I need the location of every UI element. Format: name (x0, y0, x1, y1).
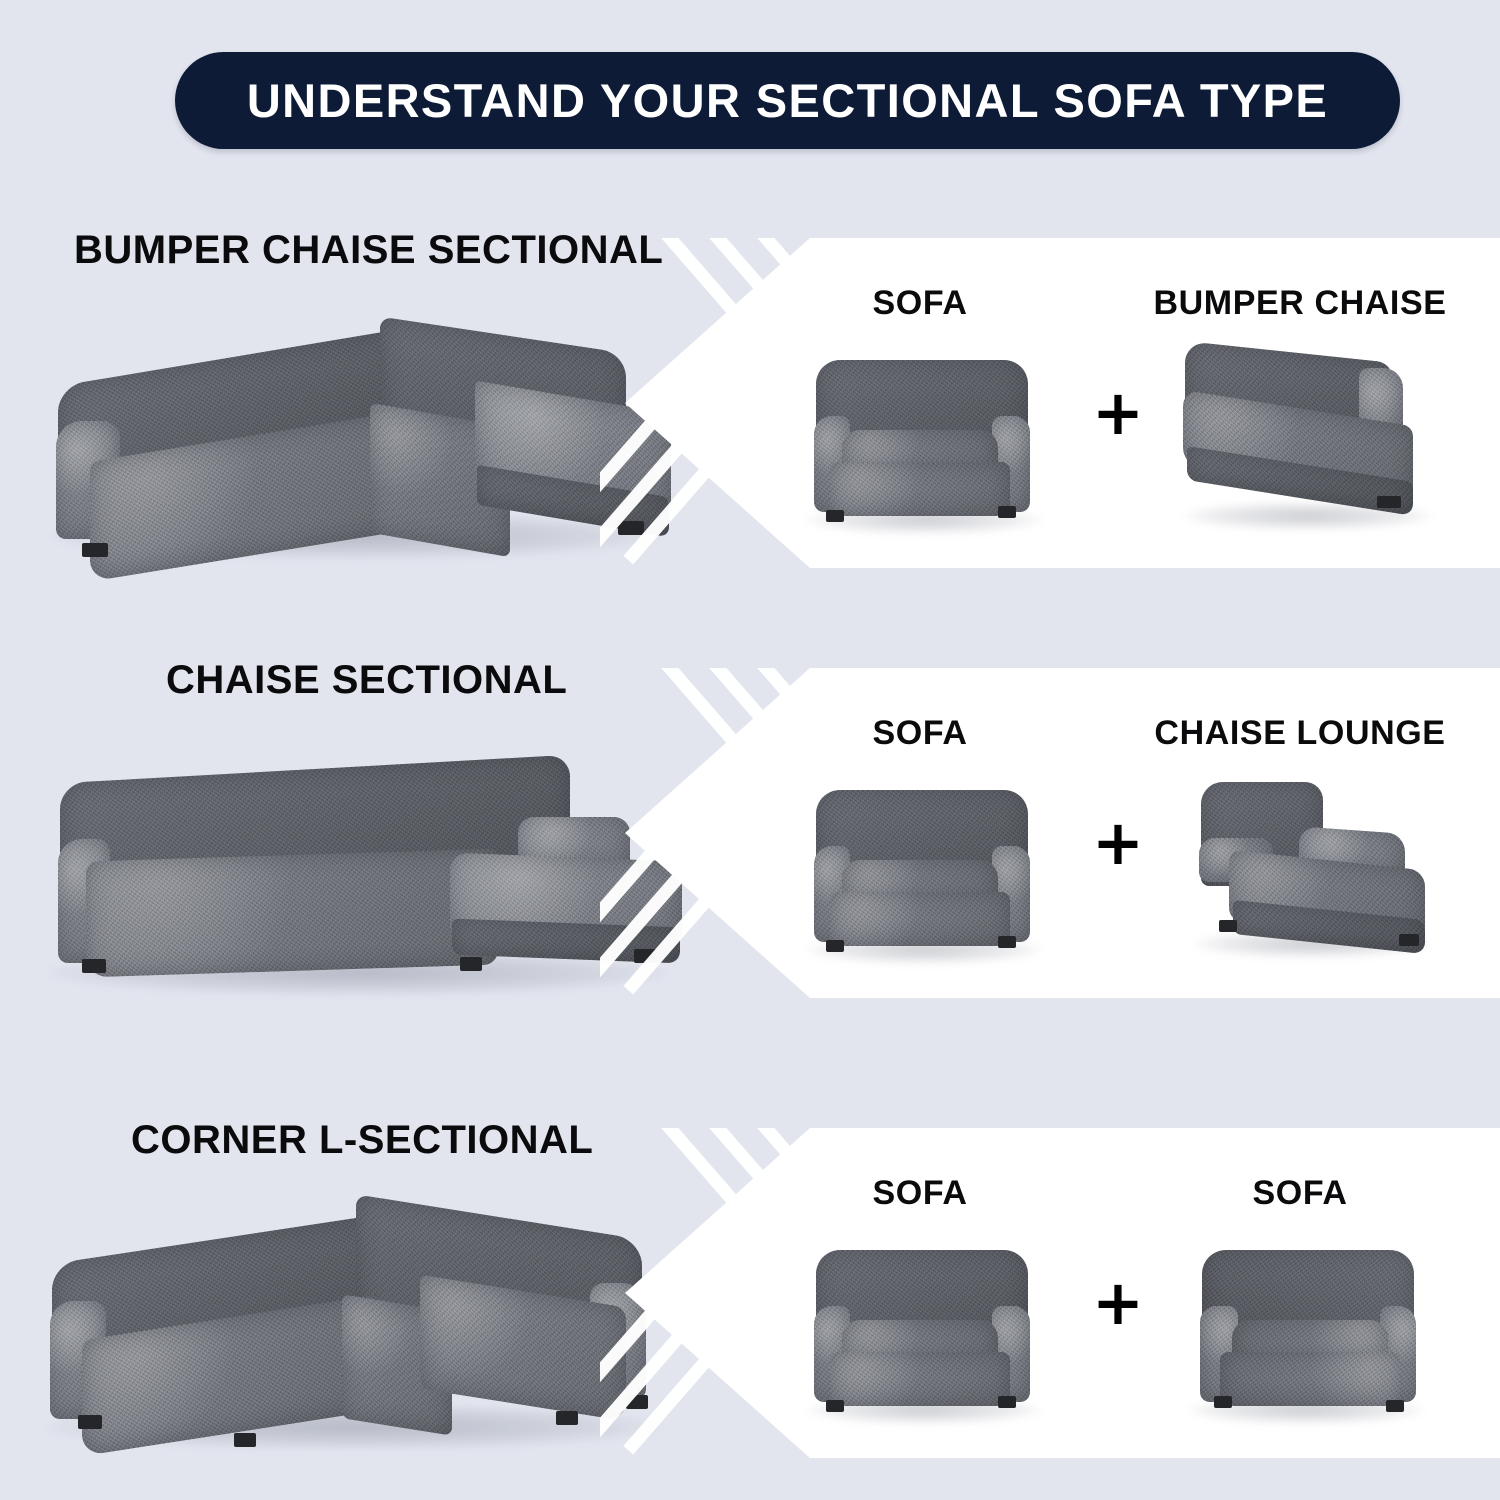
component-label-chaise-lounge: CHAISE LOUNGE (1154, 716, 1445, 750)
section-chaise-sectional: CHAISE SECTIONAL (0, 650, 1500, 1020)
title-banner: UNDERSTAND YOUR SECTIONAL SOFA TYPE (175, 52, 1400, 149)
component-panel-content: SOFA SOFA (625, 1128, 1500, 1458)
section-corner-l-sectional: CORNER L-SECTIONAL (0, 1110, 1500, 1480)
section-heading: BUMPER CHAISE SECTIONAL (74, 230, 663, 270)
piece-bumper-chaise (1173, 346, 1438, 531)
component-label-sofa-right: SOFA (1253, 1176, 1348, 1210)
component-label-sofa: SOFA (873, 286, 968, 320)
section-heading: CHAISE SECTIONAL (166, 660, 567, 700)
component-label-bumper-chaise: BUMPER CHAISE (1153, 286, 1446, 320)
piece-sofa (800, 358, 1045, 533)
infographic-canvas: UNDERSTAND YOUR SECTIONAL SOFA TYPE BUMP… (0, 0, 1500, 1500)
piece-chaise-lounge (1185, 778, 1440, 958)
component-label-sofa-left: SOFA (873, 1176, 968, 1210)
page-title: UNDERSTAND YOUR SECTIONAL SOFA TYPE (247, 77, 1328, 124)
hero-chaise-sectional (20, 705, 660, 1005)
component-label-sofa: SOFA (873, 716, 968, 750)
hero-bumper-chaise-sectional (20, 275, 660, 575)
component-panel-content: SOFA BUMPER CHAISE (625, 238, 1500, 568)
section-heading: CORNER L-SECTIONAL (131, 1120, 593, 1160)
operator-plus: + (1092, 382, 1144, 444)
section-bumper-chaise-sectional: BUMPER CHAISE SECTIONAL (0, 220, 1500, 590)
piece-sofa (800, 788, 1045, 963)
piece-sofa-mirrored (1185, 1248, 1430, 1423)
operator-plus: + (1092, 1272, 1144, 1334)
operator-plus: + (1092, 812, 1144, 874)
component-panel-content: SOFA CHAISE LOUNGE (625, 668, 1500, 998)
piece-sofa (800, 1248, 1045, 1423)
hero-corner-l-sectional (20, 1165, 660, 1465)
